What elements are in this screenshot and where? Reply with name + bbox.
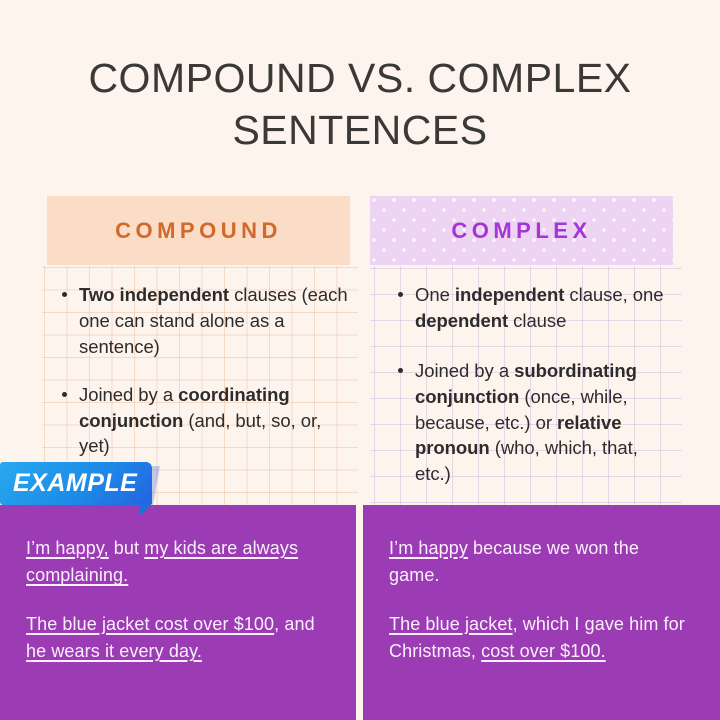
column-header-complex-label: COMPLEX xyxy=(451,218,591,244)
example-sentence: The blue jacket, which I gave him for Ch… xyxy=(389,611,694,666)
example-sentence: I’m happy because we won the game. xyxy=(389,535,694,590)
list-item: Joined by a subordinating conjunction (o… xyxy=(392,358,678,487)
infographic-canvas: COMPOUND VS. COMPLEX SENTENCES COMPOUND … xyxy=(0,0,720,720)
list-item: Two independent clauses (each one can st… xyxy=(56,282,354,360)
column-header-compound-label: COMPOUND xyxy=(115,218,282,244)
example-panel-compound: I’m happy, but my kids are always compla… xyxy=(0,505,356,720)
example-sentence: The blue jacket cost over $100, and he w… xyxy=(26,611,330,666)
column-header-compound: COMPOUND xyxy=(47,196,350,265)
list-item: Joined by a coordinating conjunction (an… xyxy=(56,382,354,460)
ribbon-fold-shape xyxy=(152,466,160,510)
example-list-compound: I’m happy, but my kids are always compla… xyxy=(26,535,330,665)
column-header-complex: COMPLEX xyxy=(370,196,673,265)
example-panel-complex: I’m happy because we won the game.The bl… xyxy=(363,505,720,720)
list-item: One independent clause, one dependent cl… xyxy=(392,282,678,334)
ribbon-body: EXAMPLE xyxy=(0,462,152,505)
page-title: COMPOUND VS. COMPLEX SENTENCES xyxy=(0,52,720,157)
bullet-list-compound: Two independent clauses (each one can st… xyxy=(42,282,354,459)
definition-panel-complex: One independent clause, one dependent cl… xyxy=(370,266,682,505)
example-sentence: I’m happy, but my kids are always compla… xyxy=(26,535,330,590)
example-ribbon-label: EXAMPLE xyxy=(13,471,137,496)
example-list-complex: I’m happy because we won the game.The bl… xyxy=(389,535,694,665)
ribbon-tail-shape xyxy=(139,505,152,516)
bullet-list-complex: One independent clause, one dependent cl… xyxy=(370,282,678,487)
example-ribbon: EXAMPLE xyxy=(0,462,162,510)
